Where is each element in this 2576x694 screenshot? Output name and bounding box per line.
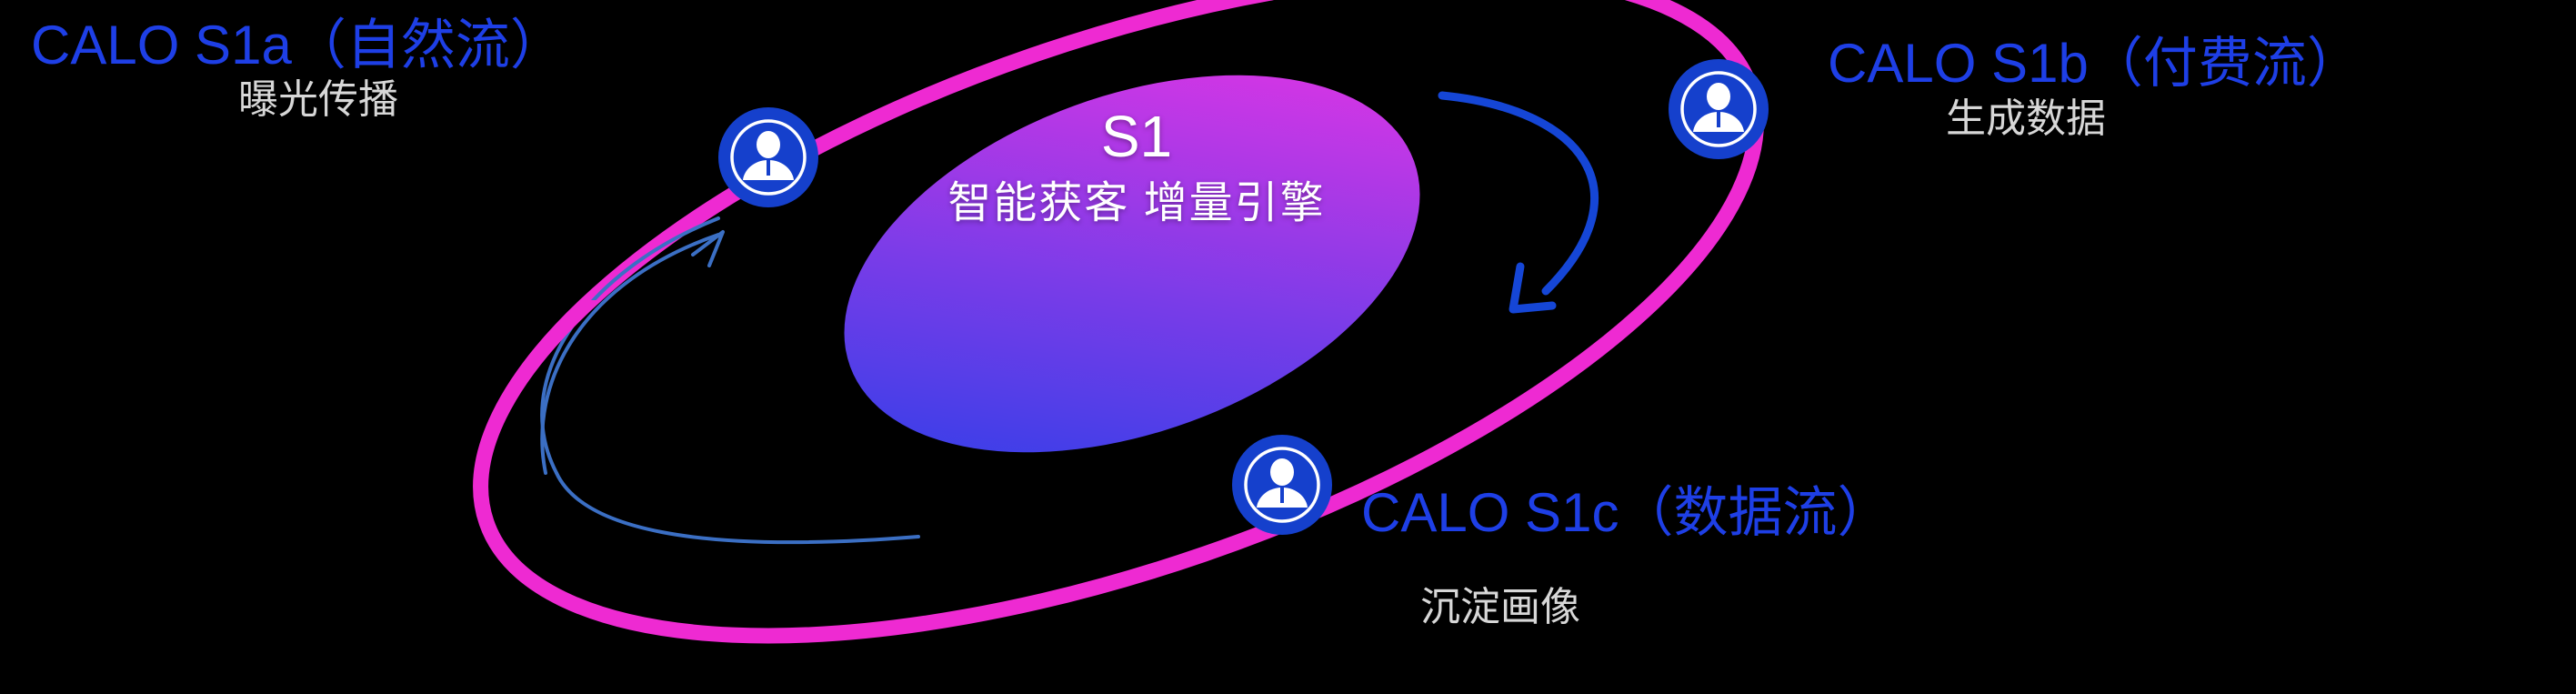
node-s1a-avatar[interactable] xyxy=(718,107,818,207)
diagram-canvas: S1 智能获客 增量引擎 CALO S1a（自然流） 曝光传播 CALO S1b… xyxy=(0,0,2576,694)
node-s1b-title: CALO S1b（付费流） xyxy=(1828,35,2361,92)
node-s1b-caption: 生成数据 xyxy=(1946,98,2106,140)
node-s1a-title: CALO S1a（自然流） xyxy=(31,16,565,74)
core-ellipse xyxy=(793,3,1472,524)
node-s1a-caption: 曝光传播 xyxy=(238,79,398,121)
node-s1c-caption: 沉淀画像 xyxy=(1420,587,1580,629)
node-s1c-avatar[interactable] xyxy=(1232,435,1332,535)
node-s1b-avatar[interactable] xyxy=(1669,59,1769,159)
node-s1c-title: CALO S1c（数据流） xyxy=(1361,484,1891,541)
arrow-right-down-icon xyxy=(1442,96,1595,309)
